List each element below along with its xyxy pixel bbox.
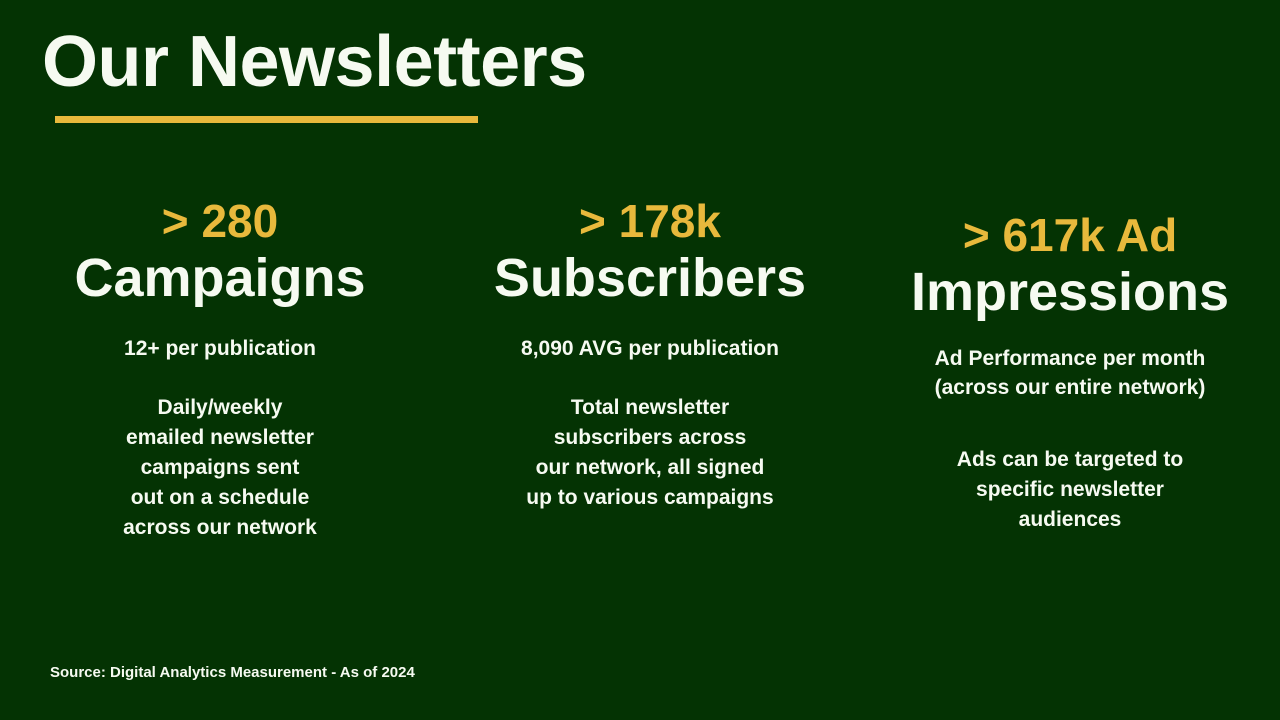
stat-label-ad-impressions: Impressions <box>870 262 1270 322</box>
slide-canvas: Our Newsletters > 280 Campaigns 12+ per … <box>0 0 1280 720</box>
stat-subtitle-campaigns: 12+ per publication <box>8 308 432 363</box>
stat-subtitle-ad-impressions: Ad Performance per month (across our ent… <box>870 322 1270 403</box>
stat-description-subscribers: Total newsletter subscribers across our … <box>446 363 854 513</box>
source-note: Source: Digital Analytics Measurement - … <box>50 663 415 683</box>
stat-subtitle-subscribers: 8,090 AVG per publication <box>446 308 854 363</box>
stat-column-campaigns: > 280 Campaigns 12+ per publication Dail… <box>0 196 440 543</box>
stat-column-ad-impressions: > 617k Ad Impressions Ad Performance per… <box>860 196 1280 535</box>
page-title: Our Newsletters <box>42 24 1142 102</box>
stat-label-campaigns: Campaigns <box>8 248 432 308</box>
stat-description-ad-impressions: Ads can be targeted to specific newslett… <box>870 403 1270 535</box>
stat-description-campaigns: Daily/weekly emailed newsletter campaign… <box>8 363 432 543</box>
stat-column-subscribers: > 178k Subscribers 8,090 AVG per publica… <box>440 196 860 513</box>
stats-columns: > 280 Campaigns 12+ per publication Dail… <box>0 196 1280 543</box>
stat-label-subscribers: Subscribers <box>446 248 854 308</box>
title-accent-rule <box>55 116 478 123</box>
stat-number-ad-impressions: > 617k Ad <box>870 210 1270 262</box>
stat-number-subscribers: > 178k <box>446 196 854 248</box>
title-block: Our Newsletters <box>42 24 1142 123</box>
stat-number-campaigns: > 280 <box>8 196 432 248</box>
